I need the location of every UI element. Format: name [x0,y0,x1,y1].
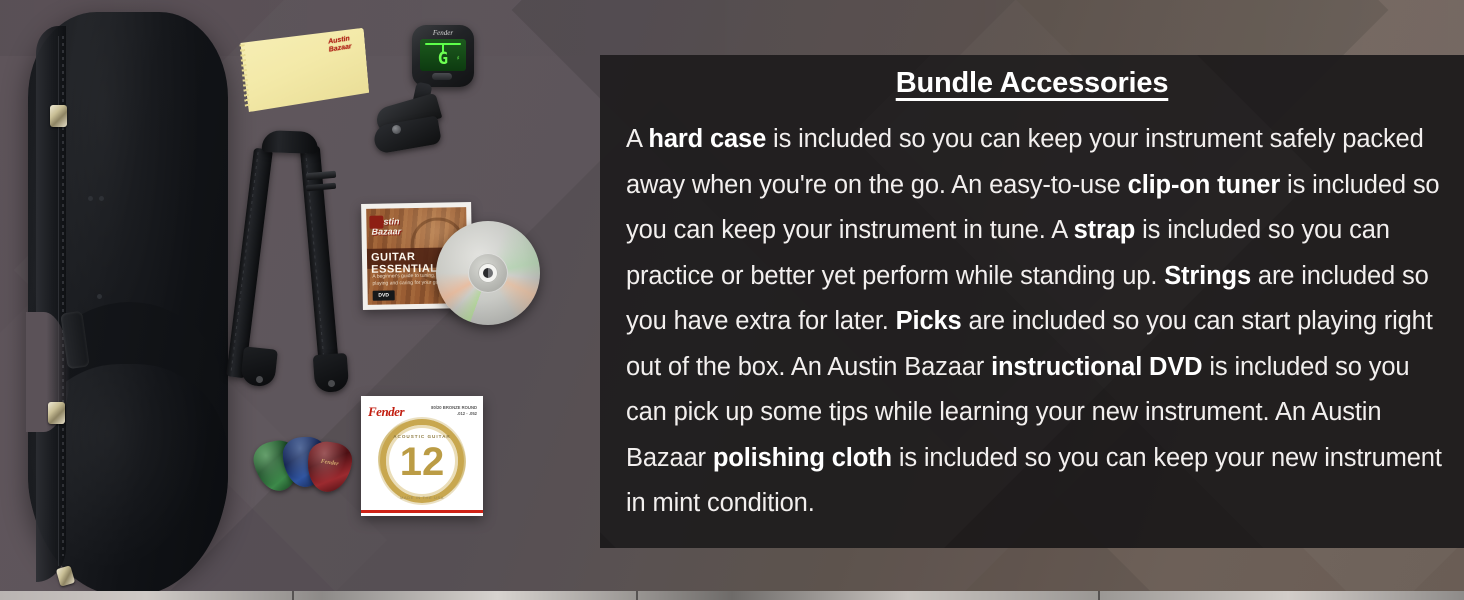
strap-stitch-left [231,152,259,372]
hard-case-foot-2 [99,196,104,201]
strap-right-band [300,146,340,383]
accessory-highlight: strap [1074,216,1136,244]
strings-made-in: MADE IN THE USA [361,495,483,500]
dvd-disc [436,221,540,325]
bottom-strip-seam-1 [292,591,294,600]
dvd-disc-center-hole [483,268,493,278]
tuner-clamp-pivot-screw-icon [392,125,401,134]
bottom-strip-seam-3 [1098,591,1100,600]
austin-bazaar-badge-icon [369,216,383,229]
dvd-format-tag: DVD [373,290,395,300]
accessory-highlight: Strings [1164,262,1251,290]
strap-button-hole-2 [328,380,335,387]
fender-logo-icon: Fender [313,458,346,469]
bundle-accessories-banner: Austin Bazaar Fender G ♯ [0,0,1464,600]
strap-button-hole-1 [256,376,263,383]
tuner-unit-value: ♯ [456,55,460,62]
hard-case-foot-3 [97,294,102,299]
product-guitar-picks: Fender [255,437,355,493]
product-clip-on-tuner: Fender G ♯ [370,25,488,167]
bottom-strip-seam-2 [636,591,638,600]
bundle-description-paragraph: A hard case is included so you can keep … [626,117,1442,527]
product-polishing-cloth: Austin Bazaar [240,28,370,113]
strap-adjuster-slider-2 [306,183,336,192]
product-instructional-dvd: Austin Bazaar GUITAR ESSENTIALS A beginn… [362,203,534,335]
bottom-edge-strip [0,591,1464,600]
accessory-highlight: instructional DVD [991,353,1202,381]
strap-shoulder-loop [262,130,319,154]
tuner-head: Fender G ♯ [412,25,474,87]
product-guitar-strap [232,122,364,392]
accessory-highlight: polishing cloth [713,444,892,472]
strings-accent-bar [361,510,483,513]
austin-bazaar-logo-icon: Austin Bazaar [371,216,429,243]
strap-end-tab-2 [313,353,350,393]
hard-case-latch-top [50,105,67,127]
strap-left-band [226,148,273,379]
paragraph-run: A [626,125,648,153]
fender-logo-icon: Fender [368,404,404,420]
product-hard-case [28,12,228,584]
product-guitar-strings: Fender 80/20 BRONZE ROUND .012 - .052 AC… [361,396,483,516]
strap-adjuster-slider-1 [306,171,336,181]
hard-case-foot-1 [88,196,93,201]
bundle-accessories-text-panel: Bundle Accessories A hard case is includ… [600,55,1464,548]
tuner-display-screen: G ♯ [420,39,466,71]
hard-case-latch-middle [48,402,65,424]
page-title: Bundle Accessories [600,67,1464,100]
accessory-highlight: Picks [896,307,962,335]
strings-category: ACOUSTIC GUITAR [361,434,483,439]
strings-spec-line-2: .012 - .052 [431,411,477,417]
fender-logo-icon: Fender [420,29,466,37]
tuner-clamp [372,99,444,161]
strings-specs: 80/20 BRONZE ROUND .012 - .052 [431,405,477,417]
guitar-pick-red: Fender [303,439,354,495]
accessory-highlight: clip-on tuner [1128,171,1280,199]
accessory-highlight: hard case [648,125,766,153]
strings-gauge: 12 [361,440,483,484]
tuner-power-button [432,73,452,80]
